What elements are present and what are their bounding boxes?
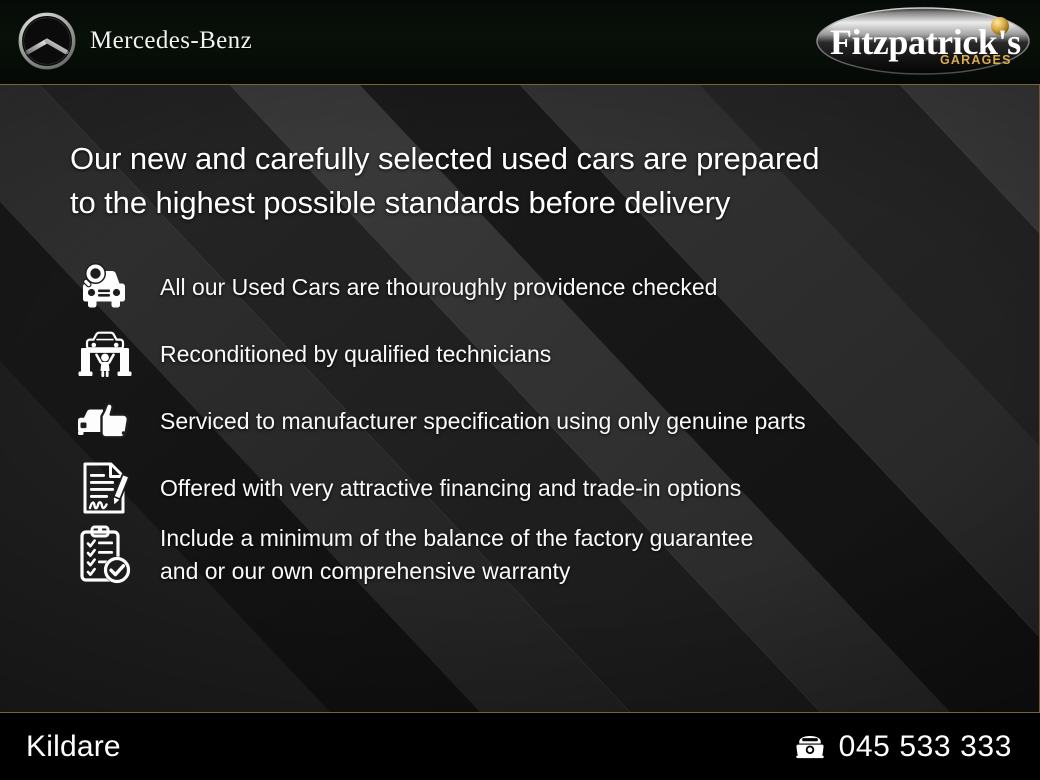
list-item-label: Include a minimum of the balance of the … [160, 522, 753, 587]
contract-signing-pen-icon [70, 457, 140, 519]
contact-phone[interactable]: 045 533 333 [795, 730, 1012, 764]
fitzpatricks-subtitle: GARAGES [940, 53, 1012, 67]
list-item-label-line-2: and or our own comprehensive warranty [160, 555, 753, 588]
headline-line-1: Our new and carefully selected used cars… [70, 137, 970, 181]
slide-body: Our new and carefully selected used cars… [0, 85, 1040, 712]
car-thumbs-up-icon [70, 390, 140, 452]
location-label: Kildare [26, 730, 121, 764]
car-inspection-magnifier-icon [70, 256, 140, 318]
list-item: All our Used Cars are thouroughly provid… [70, 254, 980, 320]
page-footer: Kildare 045 533 333 [0, 712, 1040, 780]
fitzpatricks-logo[interactable]: Fitzpatrick's GARAGES [814, 4, 1032, 78]
list-item: Include a minimum of the balance of the … [70, 522, 980, 588]
mercedes-benz-wordmark: Mercedes-Benz [90, 27, 252, 55]
phone-number: 045 533 333 [839, 730, 1012, 764]
list-item: Offered with very attractive financing a… [70, 455, 980, 521]
list-item-label: All our Used Cars are thouroughly provid… [160, 271, 717, 304]
mercedes-benz-logo: Mercedes-Benz [18, 12, 252, 70]
benefits-list: All our Used Cars are thouroughly provid… [70, 254, 980, 588]
list-item: Serviced to manufacturer specification u… [70, 388, 980, 454]
list-item-label: Reconditioned by qualified technicians [160, 338, 551, 371]
headline: Our new and carefully selected used cars… [70, 137, 970, 225]
telephone-icon [795, 734, 825, 760]
clipboard-checklist-verified-icon [70, 524, 140, 586]
mercedes-benz-star-icon [18, 12, 76, 70]
list-item-label-line-1: Include a minimum of the balance of the … [160, 525, 753, 551]
list-item: Reconditioned by qualified technicians [70, 321, 980, 387]
list-item-label: Serviced to manufacturer specification u… [160, 405, 806, 438]
page-header: Mercedes-Benz [0, 0, 1040, 85]
promo-slide: Mercedes-Benz [0, 0, 1040, 780]
slide-content: Our new and carefully selected used cars… [0, 85, 1040, 712]
car-on-lift-technician-icon [70, 323, 140, 385]
list-item-label: Offered with very attractive financing a… [160, 472, 741, 505]
headline-line-2: to the highest possible standards before… [70, 181, 970, 225]
